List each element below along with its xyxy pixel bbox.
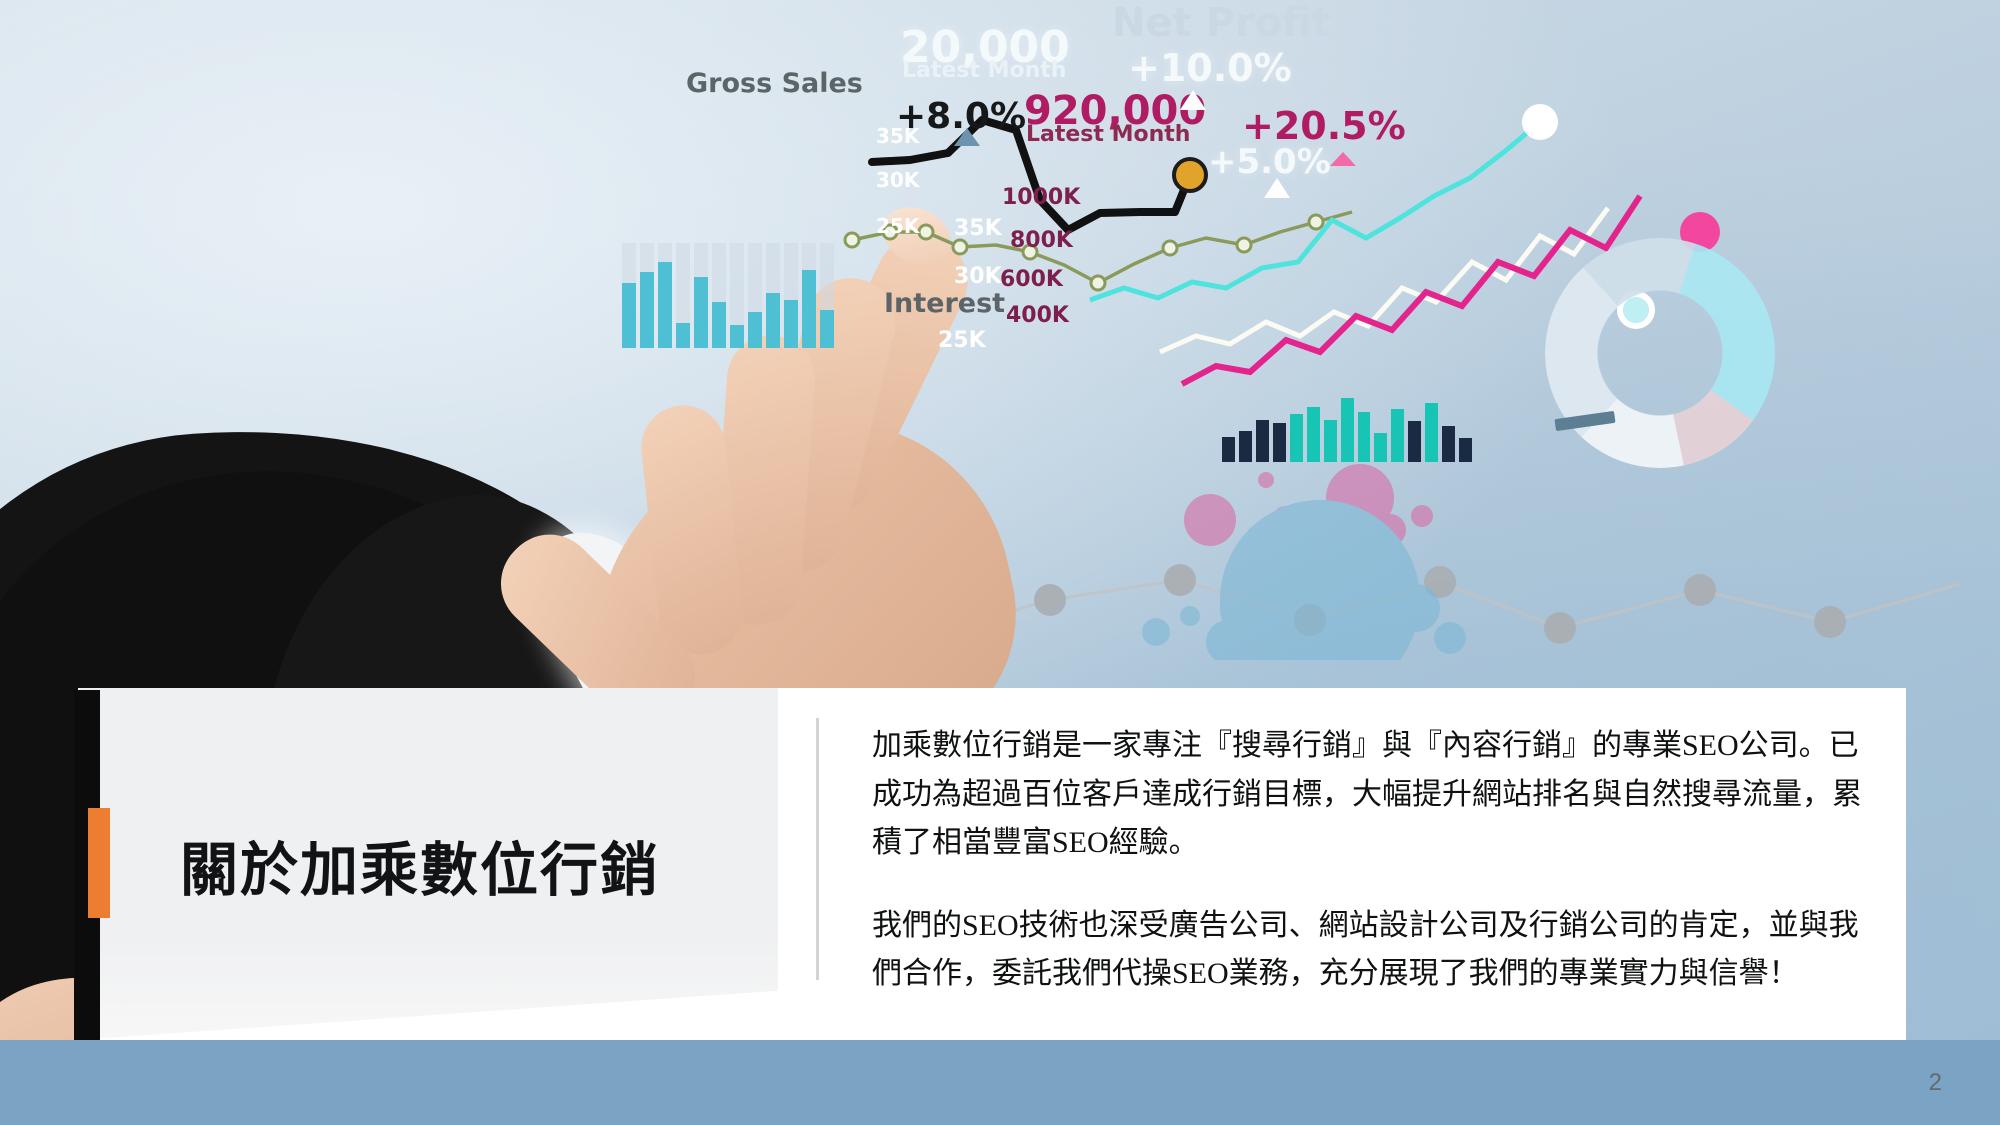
page-number: 2 (1929, 1069, 1942, 1097)
body-paragraph-1: 加乘數位行銷是一家專注『搜尋行銷』與『內容行銷』的專業SEO公司。已成功為超過百… (872, 722, 1872, 868)
vertical-divider (816, 718, 819, 980)
page-title: 關於加乘數位行銷 (180, 839, 740, 903)
body-copy: 加乘數位行銷是一家專注『搜尋行銷』與『內容行銷』的專業SEO公司。已成功為超過百… (872, 722, 1872, 999)
body-paragraph-2: 我們的SEO技術也深受廣告公司、網站設計公司及行銷公司的肯定，並與我們合作，委託… (872, 902, 1872, 999)
slide-root: Gross Sales 20,000 Latest Month +8.0% 35… (0, 0, 2000, 1125)
accent-bar (88, 808, 110, 918)
